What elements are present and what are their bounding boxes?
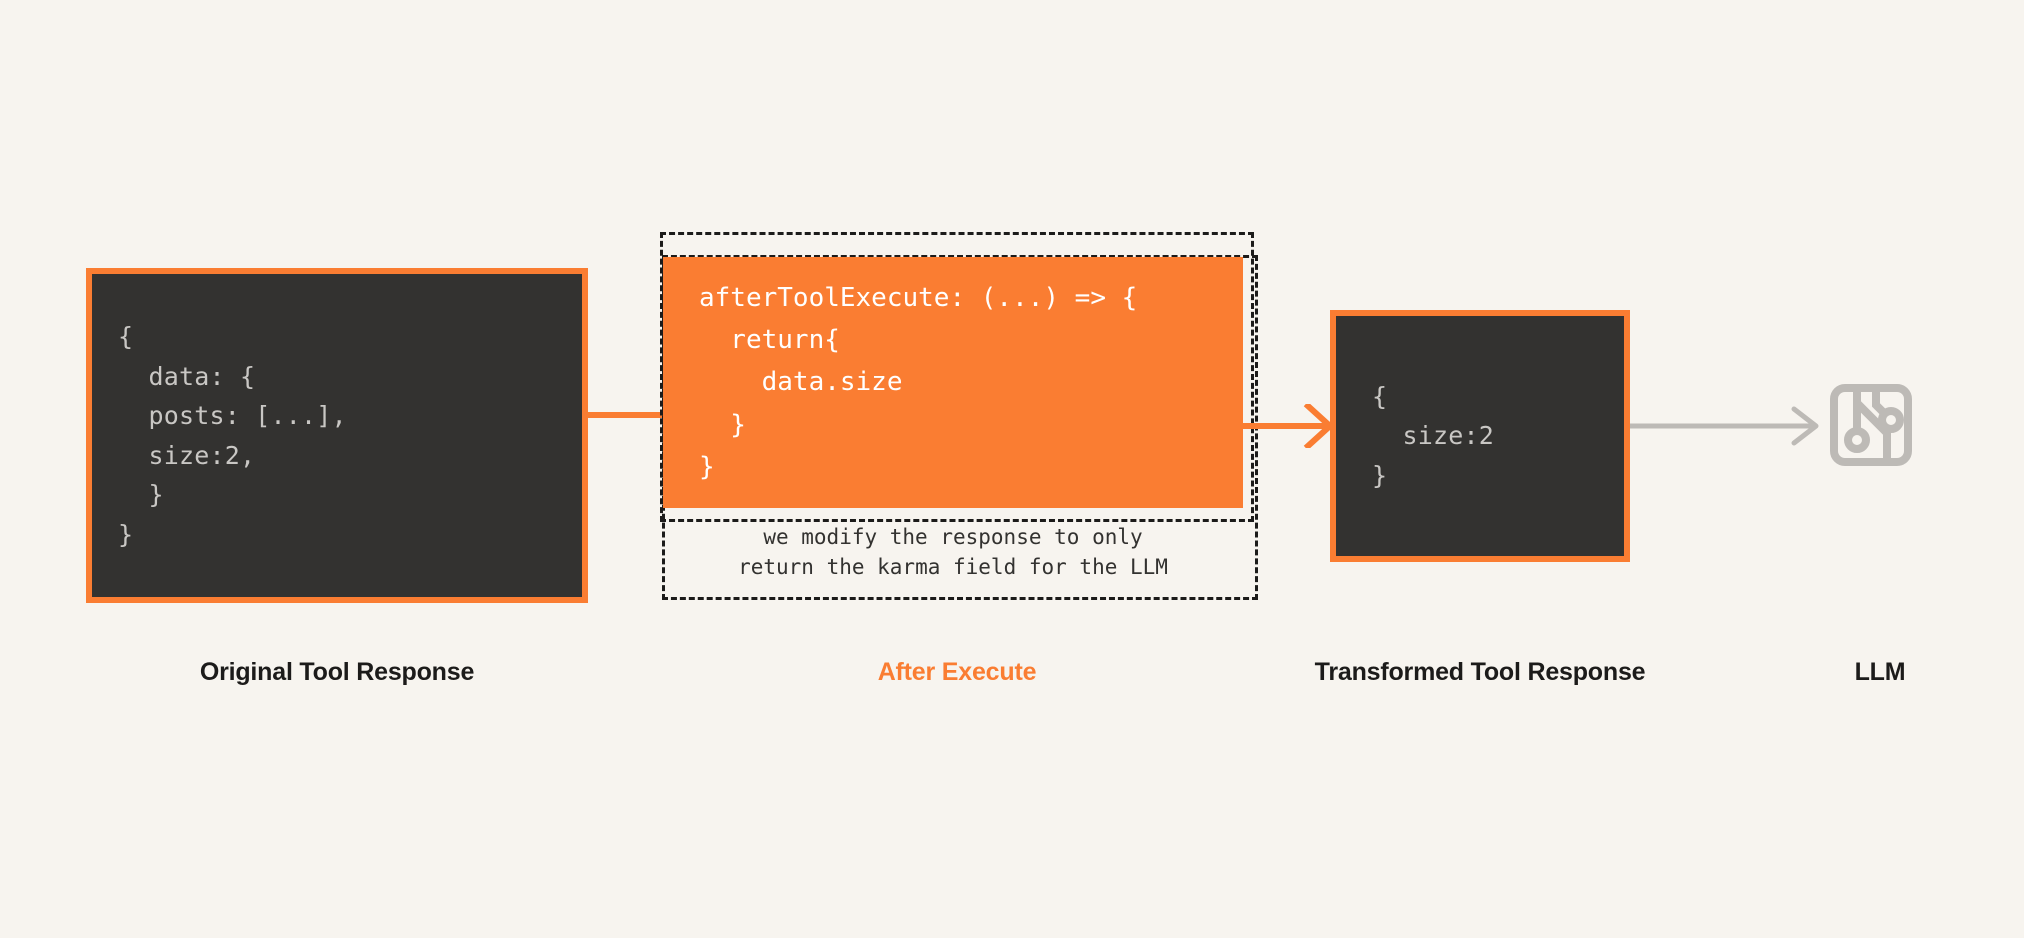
connector-transformed-to-llm bbox=[1630, 406, 1830, 446]
original-tool-response-code: { data: { posts: [...], size:2, } } bbox=[92, 317, 347, 554]
after-execute-caption: we modify the response to only return th… bbox=[663, 523, 1243, 583]
label-llm: LLM bbox=[1790, 658, 1970, 687]
connector-hook-to-transformed bbox=[1240, 404, 1336, 448]
diagram-canvas: { data: { posts: [...], size:2, } } afte… bbox=[0, 0, 2024, 938]
transformed-tool-response-code: { size:2 } bbox=[1336, 377, 1494, 496]
label-original-tool-response: Original Tool Response bbox=[86, 658, 588, 687]
label-transformed-tool-response: Transformed Tool Response bbox=[1170, 658, 1790, 687]
label-after-execute: After Execute bbox=[660, 658, 1254, 687]
after-execute-hook-card: afterToolExecute: (...) => { return{ dat… bbox=[663, 257, 1243, 508]
original-tool-response-card: { data: { posts: [...], size:2, } } bbox=[86, 268, 588, 603]
circuit-chip-icon bbox=[1829, 383, 1913, 467]
after-execute-code: afterToolExecute: (...) => { return{ dat… bbox=[663, 277, 1137, 489]
transformed-tool-response-card: { size:2 } bbox=[1330, 310, 1630, 562]
connector-original-to-hook bbox=[586, 408, 670, 422]
